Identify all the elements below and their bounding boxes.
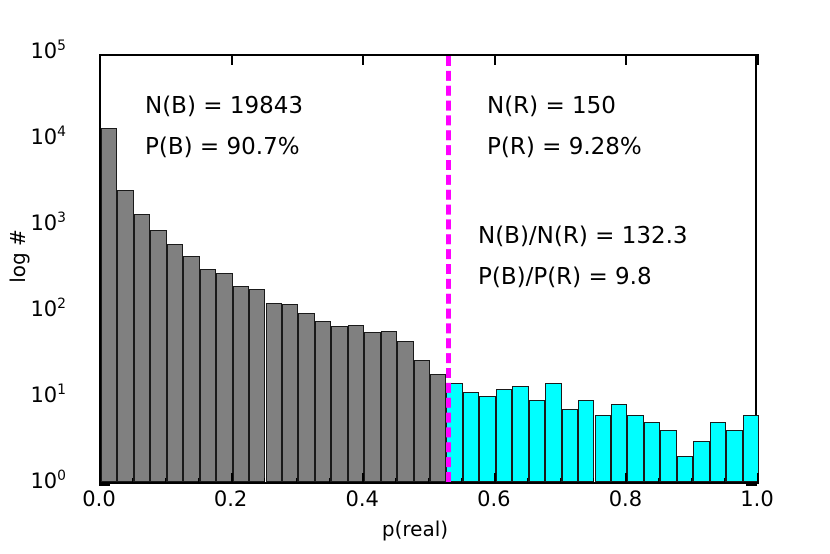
histogram-bar	[660, 430, 676, 482]
x-tickmark-major	[757, 473, 759, 484]
histogram-bar	[529, 400, 545, 482]
x-tick-label: 0.0	[59, 489, 139, 510]
x-tickmark-minor	[329, 478, 330, 484]
y-tick-exponent: 4	[57, 124, 66, 140]
histogram-bar	[743, 415, 759, 482]
x-tick-label: 0.2	[191, 489, 271, 510]
x-tickmark-minor	[264, 478, 265, 484]
histogram-bar	[101, 128, 117, 482]
x-tickmark-minor	[724, 478, 725, 484]
annotation-p-b: P(B) = 90.7%	[145, 136, 300, 159]
y-tickmark-major	[99, 484, 110, 486]
histogram-bar	[627, 415, 643, 482]
x-axis-label: p(real)	[0, 517, 830, 541]
x-tickmark-minor	[165, 478, 166, 484]
histogram-bar	[282, 304, 298, 482]
histogram-bar	[496, 389, 512, 482]
x-tickmark-minor	[593, 478, 594, 484]
histogram-bar	[644, 422, 660, 482]
x-tickmark-major	[231, 473, 233, 484]
histogram-bar	[167, 244, 183, 482]
y-tick-exponent: 5	[57, 38, 66, 54]
histogram-bar	[430, 374, 446, 482]
histogram-bar	[726, 430, 742, 482]
histogram-bar	[414, 360, 430, 482]
y-tick-mantissa: 10	[30, 39, 57, 63]
histogram-bar	[364, 332, 380, 482]
y-tick-label: 102	[30, 299, 66, 320]
x-tick-label: 0.8	[585, 489, 665, 510]
histogram-bar	[512, 386, 528, 482]
histogram-bar	[348, 325, 364, 482]
x-tickmark-major	[625, 473, 627, 484]
histogram-bar	[463, 392, 479, 482]
y-tickmark-major	[746, 484, 757, 486]
y-tick-exponent: 3	[57, 210, 66, 226]
histogram-bar	[216, 273, 232, 482]
x-tickmark-minor	[132, 478, 133, 484]
histogram-bar	[595, 415, 611, 482]
x-tickmark-minor	[296, 478, 297, 484]
histogram-bar	[693, 441, 709, 482]
y-axis-label: log #	[6, 229, 30, 283]
x-tickmark-minor	[395, 478, 396, 484]
x-tickmark-minor	[362, 478, 363, 484]
x-tickmark-minor	[691, 478, 692, 484]
y-tick-exponent: 1	[57, 382, 66, 398]
histogram-bar	[183, 256, 199, 482]
x-tickmark-major	[99, 54, 101, 65]
y-tick-label: 101	[30, 385, 66, 406]
x-tickmark-major	[494, 473, 496, 484]
histogram-bar	[397, 341, 413, 482]
x-tickmark-minor	[658, 478, 659, 484]
histogram-bar	[249, 289, 265, 482]
x-tickmark-minor	[428, 478, 429, 484]
histogram-bar	[381, 331, 397, 482]
histogram-figure: log # 100101102103104105 0.00.20.40.60.8…	[0, 0, 830, 554]
histogram-bar	[298, 313, 314, 482]
x-tickmark-major	[625, 54, 627, 65]
histogram-bar	[479, 396, 495, 482]
annotation-p-ratio: P(B)/P(R) = 9.8	[478, 266, 652, 289]
x-tickmark-minor	[198, 478, 199, 484]
histogram-bar	[710, 422, 726, 482]
y-tick-label: 105	[30, 41, 66, 62]
histogram-bar	[150, 230, 166, 482]
annotation-n-ratio: N(B)/N(R) = 132.3	[478, 225, 688, 248]
x-tickmark-major	[362, 54, 364, 65]
threshold-line	[446, 56, 451, 482]
histogram-bar	[266, 303, 282, 482]
x-tickmark-minor	[461, 478, 462, 484]
histogram-bar	[315, 321, 331, 482]
annotation-n-r: N(R) = 150	[487, 95, 616, 118]
x-tickmark-minor	[560, 478, 561, 484]
y-tick-mantissa: 10	[30, 297, 57, 321]
x-tick-label: 1.0	[717, 489, 797, 510]
y-tick-label: 103	[30, 213, 66, 234]
y-tick-mantissa: 10	[30, 211, 57, 235]
y-tick-mantissa: 10	[30, 469, 57, 493]
y-tick-mantissa: 10	[30, 125, 57, 149]
y-tick-label: 104	[30, 127, 66, 148]
histogram-bar	[117, 190, 133, 482]
histogram-bar	[611, 404, 627, 482]
histogram-bar	[200, 269, 216, 482]
x-tickmark-major	[494, 54, 496, 65]
x-tickmark-major	[231, 54, 233, 65]
histogram-bar	[233, 286, 249, 482]
histogram-bar	[331, 326, 347, 482]
x-tickmark-major	[757, 54, 759, 65]
annotation-n-b: N(B) = 19843	[145, 95, 303, 118]
x-tickmark-minor	[527, 478, 528, 484]
histogram-bar	[545, 383, 561, 482]
y-tick-mantissa: 10	[30, 383, 57, 407]
x-tickmark-major	[99, 473, 101, 484]
histogram-bars	[101, 56, 755, 482]
histogram-bar	[578, 400, 594, 482]
histogram-bar	[134, 214, 150, 482]
y-tick-exponent: 2	[57, 296, 66, 312]
x-tick-label: 0.6	[454, 489, 534, 510]
histogram-bar	[562, 409, 578, 482]
y-tick-exponent: 0	[57, 468, 66, 484]
x-tick-label: 0.4	[322, 489, 402, 510]
annotation-p-r: P(R) = 9.28%	[487, 136, 642, 159]
